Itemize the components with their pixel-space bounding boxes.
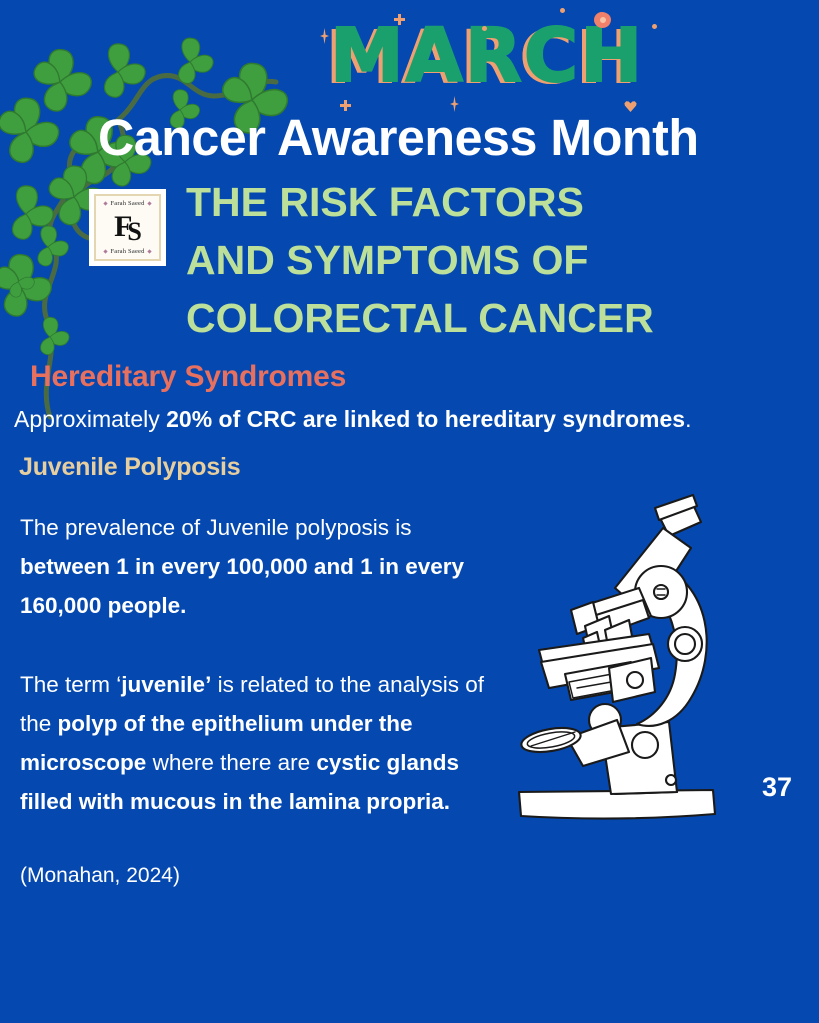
subtitle-line-1: THE RISK FACTORS	[186, 173, 786, 231]
citation: (Monahan, 2024)	[20, 862, 180, 890]
subtitle-line-3: COLORECTAL CANCER	[186, 289, 786, 347]
subsection-heading-juvenile-polyposis: Juvenile Polyposis	[19, 452, 241, 482]
microscope-illustration	[505, 492, 740, 837]
logo-inner-frame: Farah Saeed FS Farah Saeed	[94, 194, 161, 261]
lead-prefix: Approximately	[14, 406, 166, 432]
page-number: 37	[762, 772, 792, 803]
para1-bold: between 1 in every 100,000 and 1 in ever…	[20, 554, 464, 618]
paragraph-juvenile-definition: The term ‘juvenile’ is related to the an…	[20, 665, 500, 821]
para1-normal: The prevalence of Juvenile polyposis is	[20, 515, 411, 540]
para2-part1: The term ‘	[20, 672, 121, 697]
slide-canvas: MARCH Cancer Awareness Month Farah Saeed…	[0, 0, 819, 1023]
page-title: Cancer Awareness Month	[98, 109, 811, 167]
lead-bold: 20% of CRC are linked to hereditary synd…	[166, 406, 685, 432]
lead-statistic-line: Approximately 20% of CRC are linked to h…	[14, 404, 804, 434]
section-heading-hereditary-syndromes: Hereditary Syndromes	[30, 360, 346, 394]
logo-monogram-s: S	[127, 217, 138, 246]
para2-bold1: juvenile’	[121, 672, 211, 697]
brand-logo: Farah Saeed FS Farah Saeed	[89, 189, 166, 266]
sparkle-diamond-icon	[320, 28, 329, 44]
march-title-group: MARCH	[330, 8, 675, 108]
paragraph-prevalence: The prevalence of Juvenile polyposis is …	[20, 508, 500, 625]
march-word: MARCH	[330, 8, 675, 104]
subtitle-line-2: AND SYMPTOMS OF	[186, 231, 786, 289]
lead-suffix: .	[685, 406, 691, 432]
para2-part3: where there are	[146, 750, 316, 775]
logo-monogram: FS	[114, 212, 141, 243]
subtitle-block: THE RISK FACTORS AND SYMPTOMS OF COLOREC…	[186, 173, 786, 347]
logo-bottom-caption: Farah Saeed	[104, 248, 150, 255]
logo-top-caption: Farah Saeed	[104, 200, 150, 207]
